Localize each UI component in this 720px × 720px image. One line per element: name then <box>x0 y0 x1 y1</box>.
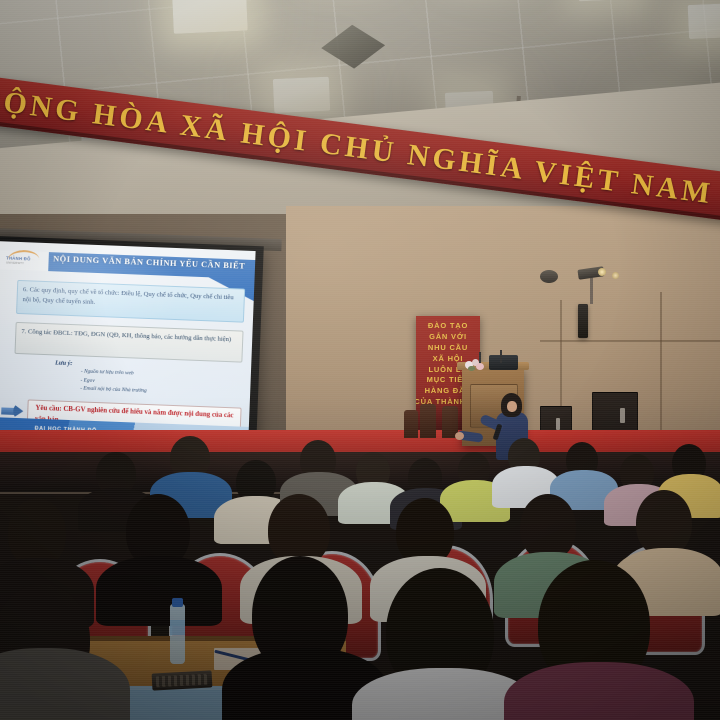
lighting-overlay <box>0 0 720 720</box>
conference-hall-photo: C CỘNG HÒA XÃ HỘI CHỦ NGHĨA VIỆT NAM MUÔ… <box>0 0 720 720</box>
